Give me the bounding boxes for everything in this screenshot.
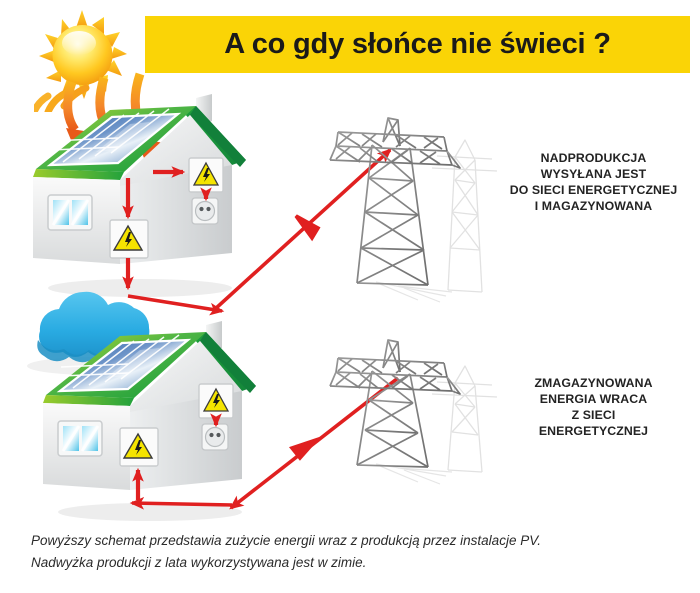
power-socket [192, 198, 218, 224]
arrow-segment-to-corner [128, 296, 222, 311]
warning-sign-meter-box [189, 158, 223, 192]
arrow-midpoint-head [292, 440, 316, 458]
infographic-canvas: A co gdy słońce nie świeci ? [0, 0, 700, 593]
label-line: I MAGAZYNOWANA [487, 198, 700, 214]
label-line: WYSYŁANA JEST [487, 166, 700, 182]
arrow-segment-to-house [132, 503, 232, 505]
power-socket [202, 424, 228, 450]
caption-line: Powyższy schemat przedstawia zużycie ene… [31, 530, 671, 552]
window [58, 421, 102, 456]
label-line: ENERGIA WRACA [487, 391, 700, 407]
footer-caption: Powyższy schemat przedstawia zużycie ene… [31, 530, 671, 574]
pylon-lattice [357, 145, 428, 285]
warning-sign-inverter [110, 220, 148, 258]
pylon-lattice [357, 371, 428, 467]
pylon-base [357, 283, 428, 285]
warning-sign-meter-box [199, 384, 233, 418]
label-line: DO SIECI ENERGETYCZNEJ [487, 182, 700, 198]
label-stored-return: ZMAGAZYNOWANA ENERGIA WRACA Z SIECI ENER… [487, 375, 700, 439]
house-with-solar-panels-sunny [33, 94, 246, 297]
pylon-base [357, 465, 428, 467]
label-overproduction: NADPRODUKCJA WYSYŁANA JEST DO SIECI ENER… [487, 150, 700, 214]
warning-sign-inverter [120, 428, 158, 466]
caption-line: Nadwyżka produkcji z lata wykorzystywana… [31, 552, 671, 574]
label-line: ENERGETYCZNEJ [487, 423, 700, 439]
label-line: NADPRODUKCJA [487, 150, 700, 166]
illustration-layer [0, 0, 700, 593]
label-line: ZMAGAZYNOWANA [487, 375, 700, 391]
scene-stored-return [27, 292, 497, 521]
label-line: Z SIECI [487, 407, 700, 423]
transmission-pylon-upper [330, 118, 497, 302]
window [48, 195, 92, 230]
scene-overproduction [33, 74, 497, 311]
